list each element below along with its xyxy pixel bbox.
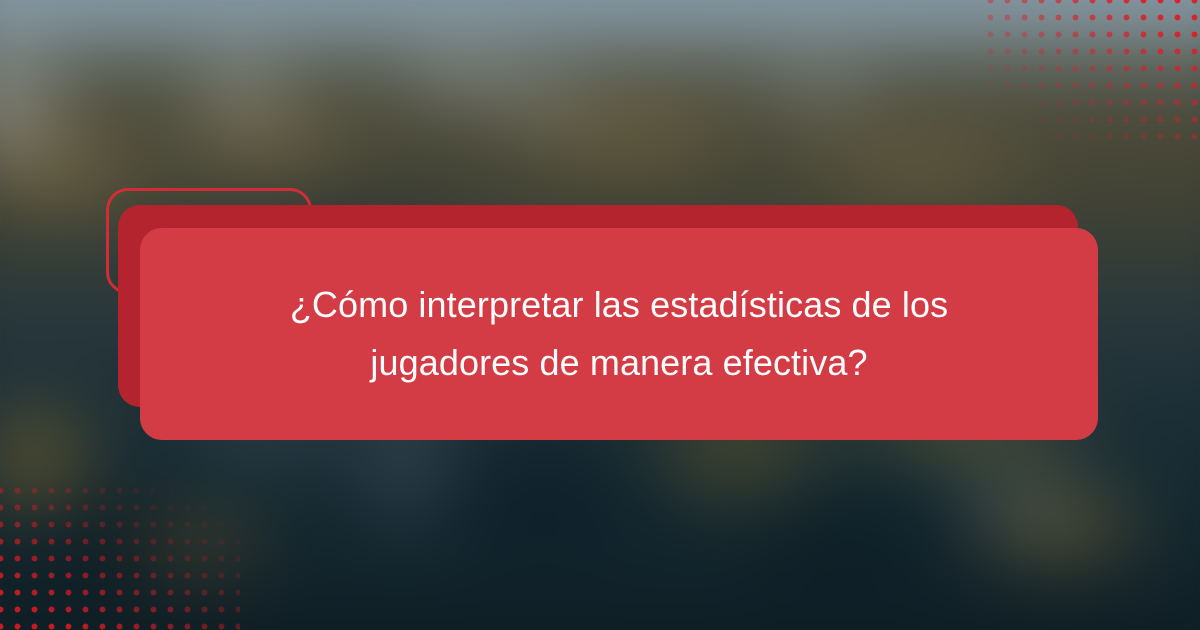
page-title: ¿Cómo interpretar las estadísticas de lo… — [269, 276, 969, 393]
share-card-canvas: ¿Cómo interpretar las estadísticas de lo… — [0, 0, 1200, 630]
halftone-dots-top-right — [980, 0, 1200, 140]
halftone-dots-bottom-left — [0, 480, 240, 630]
card-title-wrapper: ¿Cómo interpretar las estadísticas de lo… — [140, 228, 1098, 440]
